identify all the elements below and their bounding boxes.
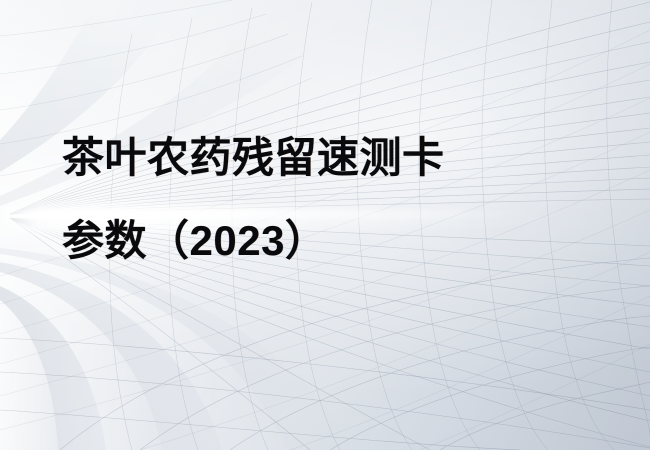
page-title: 茶叶农药残留速测卡 参数（2023） <box>62 137 445 262</box>
title-line-1: 茶叶农药残留速测卡 <box>62 137 445 179</box>
title-line-2: 参数（2023） <box>62 220 445 262</box>
title-banner: 茶叶农药残留速测卡 参数（2023） <box>0 0 650 450</box>
